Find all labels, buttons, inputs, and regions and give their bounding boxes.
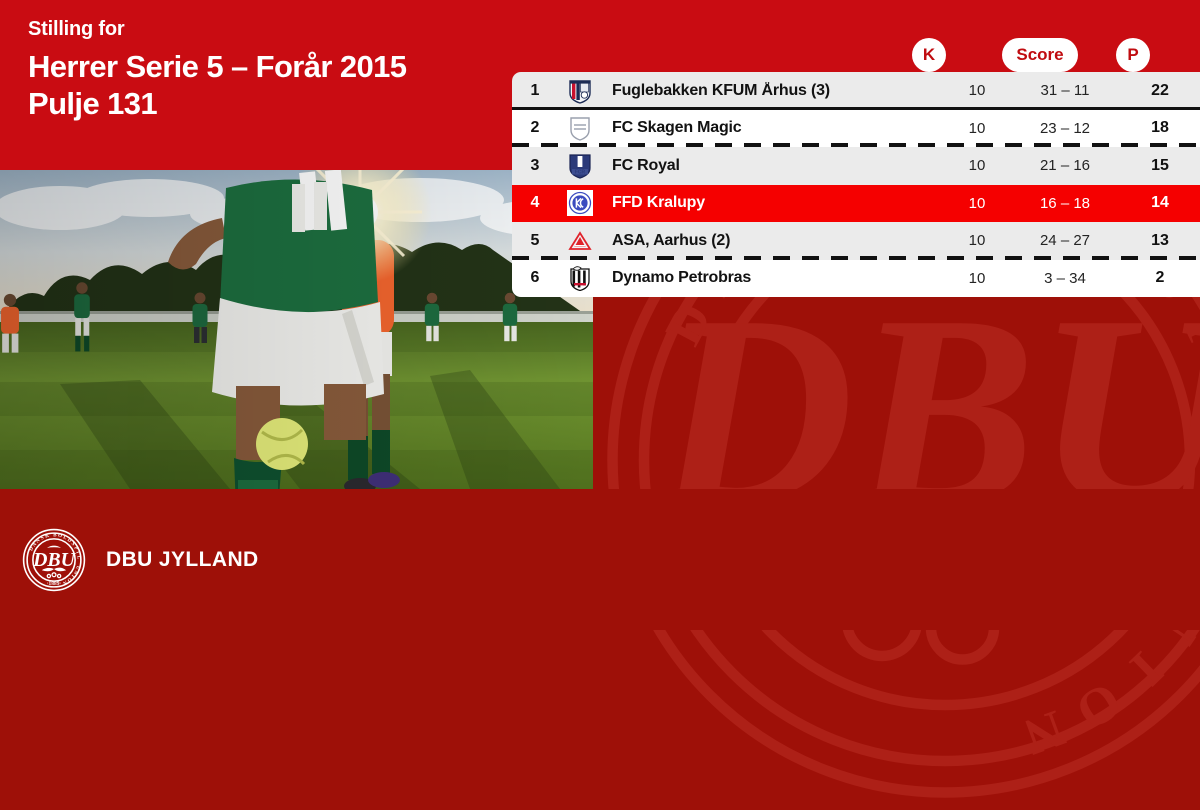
- football-match-photo: [0, 170, 593, 489]
- row-played: 10: [944, 195, 1010, 212]
- svg-text:I: I: [1196, 373, 1200, 407]
- column-header-points: P: [1116, 38, 1150, 72]
- row-team: FFD Kralupy: [602, 194, 944, 212]
- column-headers: K Score P: [512, 38, 1200, 72]
- svg-text:I: I: [1119, 641, 1174, 697]
- triangle-red-asa-icon: [558, 228, 602, 254]
- svg-text:N: N: [1016, 699, 1072, 766]
- standings-table: 1 Fuglebakken KFUM Århus (3) 10 31 – 11 …: [512, 72, 1200, 297]
- row-score: 31 – 11: [1010, 82, 1120, 99]
- footer-bar: DBU D A N S K B O L D S P I L U N I O: [0, 489, 1200, 630]
- page-title: Herrer Serie 5 – Forår 2015 Pulje 131: [28, 48, 406, 122]
- row-points: 13: [1120, 232, 1200, 250]
- title-block: Stilling for Herrer Serie 5 – Forår 2015…: [28, 18, 406, 122]
- row-points: 18: [1120, 119, 1200, 137]
- row-played: 10: [944, 270, 1010, 287]
- row-team: FC Skagen Magic: [602, 119, 944, 137]
- circle-blue-monogram-icon: [558, 190, 602, 216]
- table-row[interactable]: 1 Fuglebakken KFUM Århus (3) 10 31 – 11 …: [512, 72, 1200, 110]
- row-score: 24 – 27: [1010, 232, 1120, 249]
- row-team: Fuglebakken KFUM Århus (3): [602, 82, 944, 100]
- row-score: 16 – 18: [1010, 195, 1120, 212]
- row-rank: 4: [512, 194, 558, 212]
- row-score: 3 – 34: [1010, 270, 1120, 287]
- shield-gray-outline-icon: [558, 115, 602, 141]
- row-score: 21 – 16: [1010, 157, 1120, 174]
- dbu-seal-icon: DBU D A N S K B O L D S P I L U N I O: [22, 528, 86, 592]
- table-row-highlighted[interactable]: 4 FFD Kralupy 10 16 – 18 14: [512, 185, 1200, 223]
- row-rank: 5: [512, 232, 558, 250]
- column-header-played: K: [912, 38, 946, 72]
- shield-red-navy-stripes-icon: [558, 78, 602, 104]
- page-kicker: Stilling for: [28, 18, 406, 40]
- row-rank: 2: [512, 119, 558, 137]
- svg-text:DBU: DBU: [32, 548, 77, 570]
- table-row[interactable]: 5 ASA, Aarhus (2) 10 24 – 27 13: [512, 222, 1200, 260]
- row-rank: 1: [512, 82, 558, 100]
- row-team: ASA, Aarhus (2): [602, 232, 944, 250]
- svg-text:B: B: [53, 532, 57, 538]
- row-points: 22: [1120, 82, 1200, 100]
- table-row[interactable]: 2 FC Skagen Magic 10 23 – 12 18: [512, 110, 1200, 148]
- table-row[interactable]: 6 Dynamo Petrobras 10 3 – 34 2: [512, 260, 1200, 298]
- row-points: 15: [1120, 157, 1200, 175]
- footer-organisation-label: DBU JYLLAND: [106, 548, 259, 572]
- row-played: 10: [944, 120, 1010, 137]
- row-played: 10: [944, 232, 1010, 249]
- row-rank: 3: [512, 157, 558, 175]
- shield-navy-fcr-icon: FCR: [558, 153, 602, 179]
- svg-text:FCR: FCR: [575, 169, 586, 175]
- row-score: 23 – 12: [1010, 120, 1120, 137]
- svg-text:P: P: [1173, 306, 1200, 360]
- svg-text:D: D: [654, 293, 723, 354]
- svg-text:S: S: [40, 534, 45, 541]
- row-team: FC Royal: [602, 157, 944, 175]
- row-team: Dynamo Petrobras: [602, 269, 944, 287]
- row-points: 2: [1120, 269, 1200, 287]
- row-played: 10: [944, 157, 1010, 174]
- row-played: 10: [944, 82, 1010, 99]
- shield-black-white-stripes-icon: [558, 265, 602, 291]
- row-rank: 6: [512, 269, 558, 287]
- svg-text:·1889·: ·1889·: [47, 580, 62, 586]
- column-header-score: Score: [1002, 38, 1078, 72]
- table-row[interactable]: 3 FCR FC Royal 10 21 – 16 15: [512, 147, 1200, 185]
- svg-text:O: O: [1066, 671, 1131, 742]
- row-points: 14: [1120, 194, 1200, 212]
